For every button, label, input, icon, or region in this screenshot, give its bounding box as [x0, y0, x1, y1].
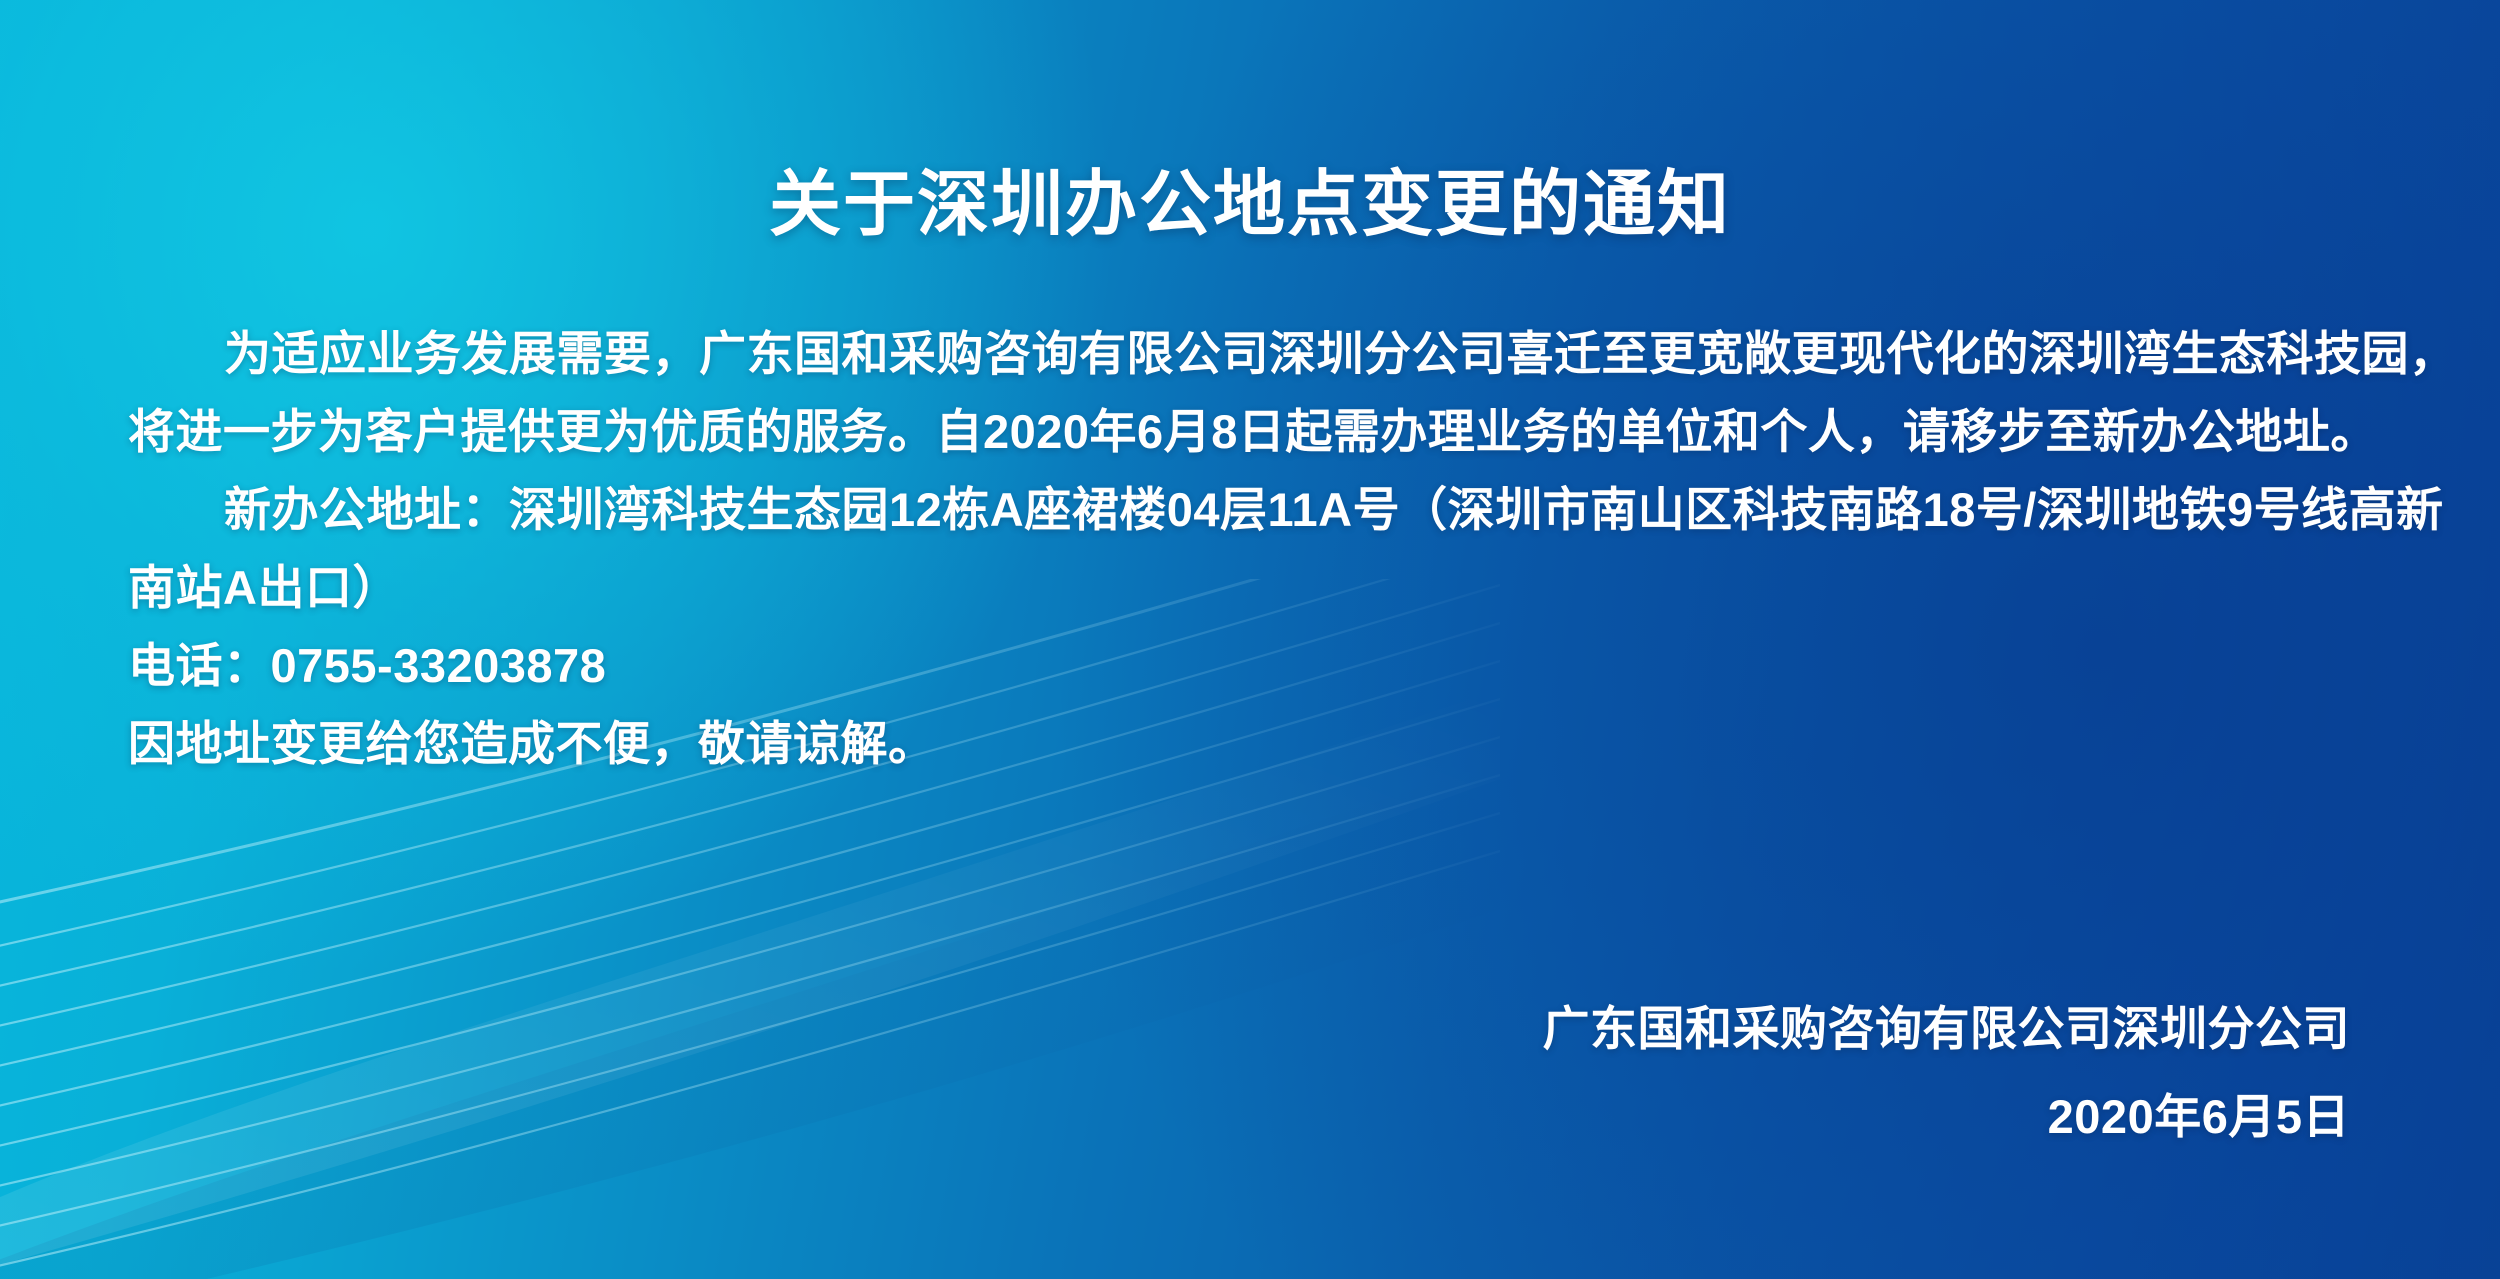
body-paragraph-address: 新办公地址：深圳湾科技生态园12栋A座裙楼04层11A号（深圳市南山区科技南路1…	[128, 471, 2458, 627]
signature-block: 广东国和采购咨询有限公司深圳分公司 2020年6月5日	[1543, 985, 2351, 1161]
notice-poster: 关于深圳办公地点变更的通知 为适应业务发展需要，广东国和采购咨询有限公司深圳分公…	[0, 0, 2500, 1279]
signature-company: 广东国和采购咨询有限公司深圳分公司	[1543, 985, 2351, 1073]
notice-content: 关于深圳办公地点变更的通知 为适应业务发展需要，广东国和采购咨询有限公司深圳分公…	[0, 0, 2500, 1279]
body-paragraph-phone: 电话：0755-33203878	[128, 627, 2458, 705]
body-paragraph-background: 为适应业务发展需要，广东国和采购咨询有限公司深圳分公司喜迁至更宽敞更现代化的深圳…	[128, 315, 2458, 471]
page-title: 关于深圳办公地点变更的通知	[0, 166, 2500, 245]
signature-date: 2020年6月5日	[1543, 1073, 2351, 1161]
body-paragraph-apology: 因地址变更给您造成不便，敬请谅解。	[128, 705, 2458, 783]
notice-body: 为适应业务发展需要，广东国和采购咨询有限公司深圳分公司喜迁至更宽敞更现代化的深圳…	[128, 315, 2458, 783]
